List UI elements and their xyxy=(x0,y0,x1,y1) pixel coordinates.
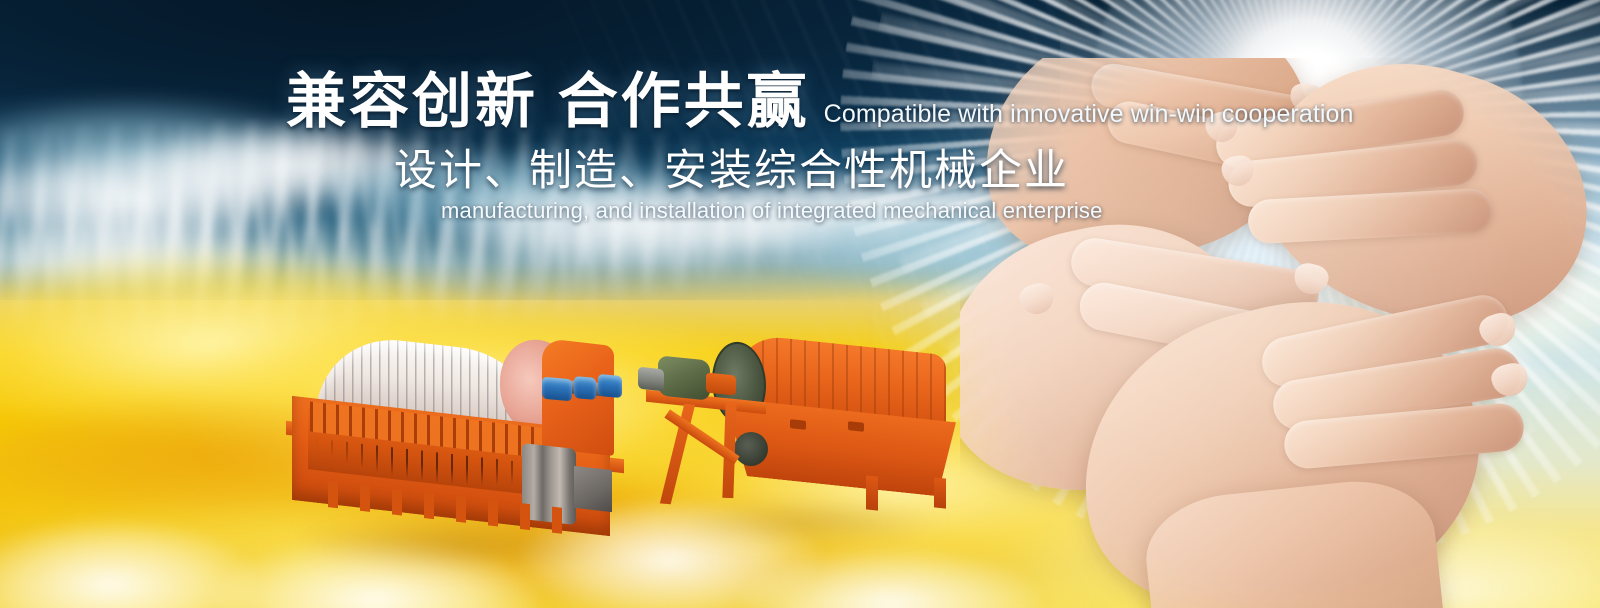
page-title: 兼容创新 合作共赢 xyxy=(286,72,810,132)
headline-row: 兼容创新 合作共赢 Compatible with innovative win… xyxy=(286,72,1354,132)
page-title-english: Compatible with innovative win-win coope… xyxy=(824,102,1354,132)
hero-banner: 兼容创新 合作共赢 Compatible with innovative win… xyxy=(0,0,1600,608)
subtitle-english: manufacturing, and installation of integ… xyxy=(441,200,1103,222)
subtitle: 设计、制造、安装综合性机械企业 xyxy=(394,150,1069,193)
banner-copy: 兼容创新 合作共赢 Compatible with innovative win… xyxy=(0,0,1600,608)
